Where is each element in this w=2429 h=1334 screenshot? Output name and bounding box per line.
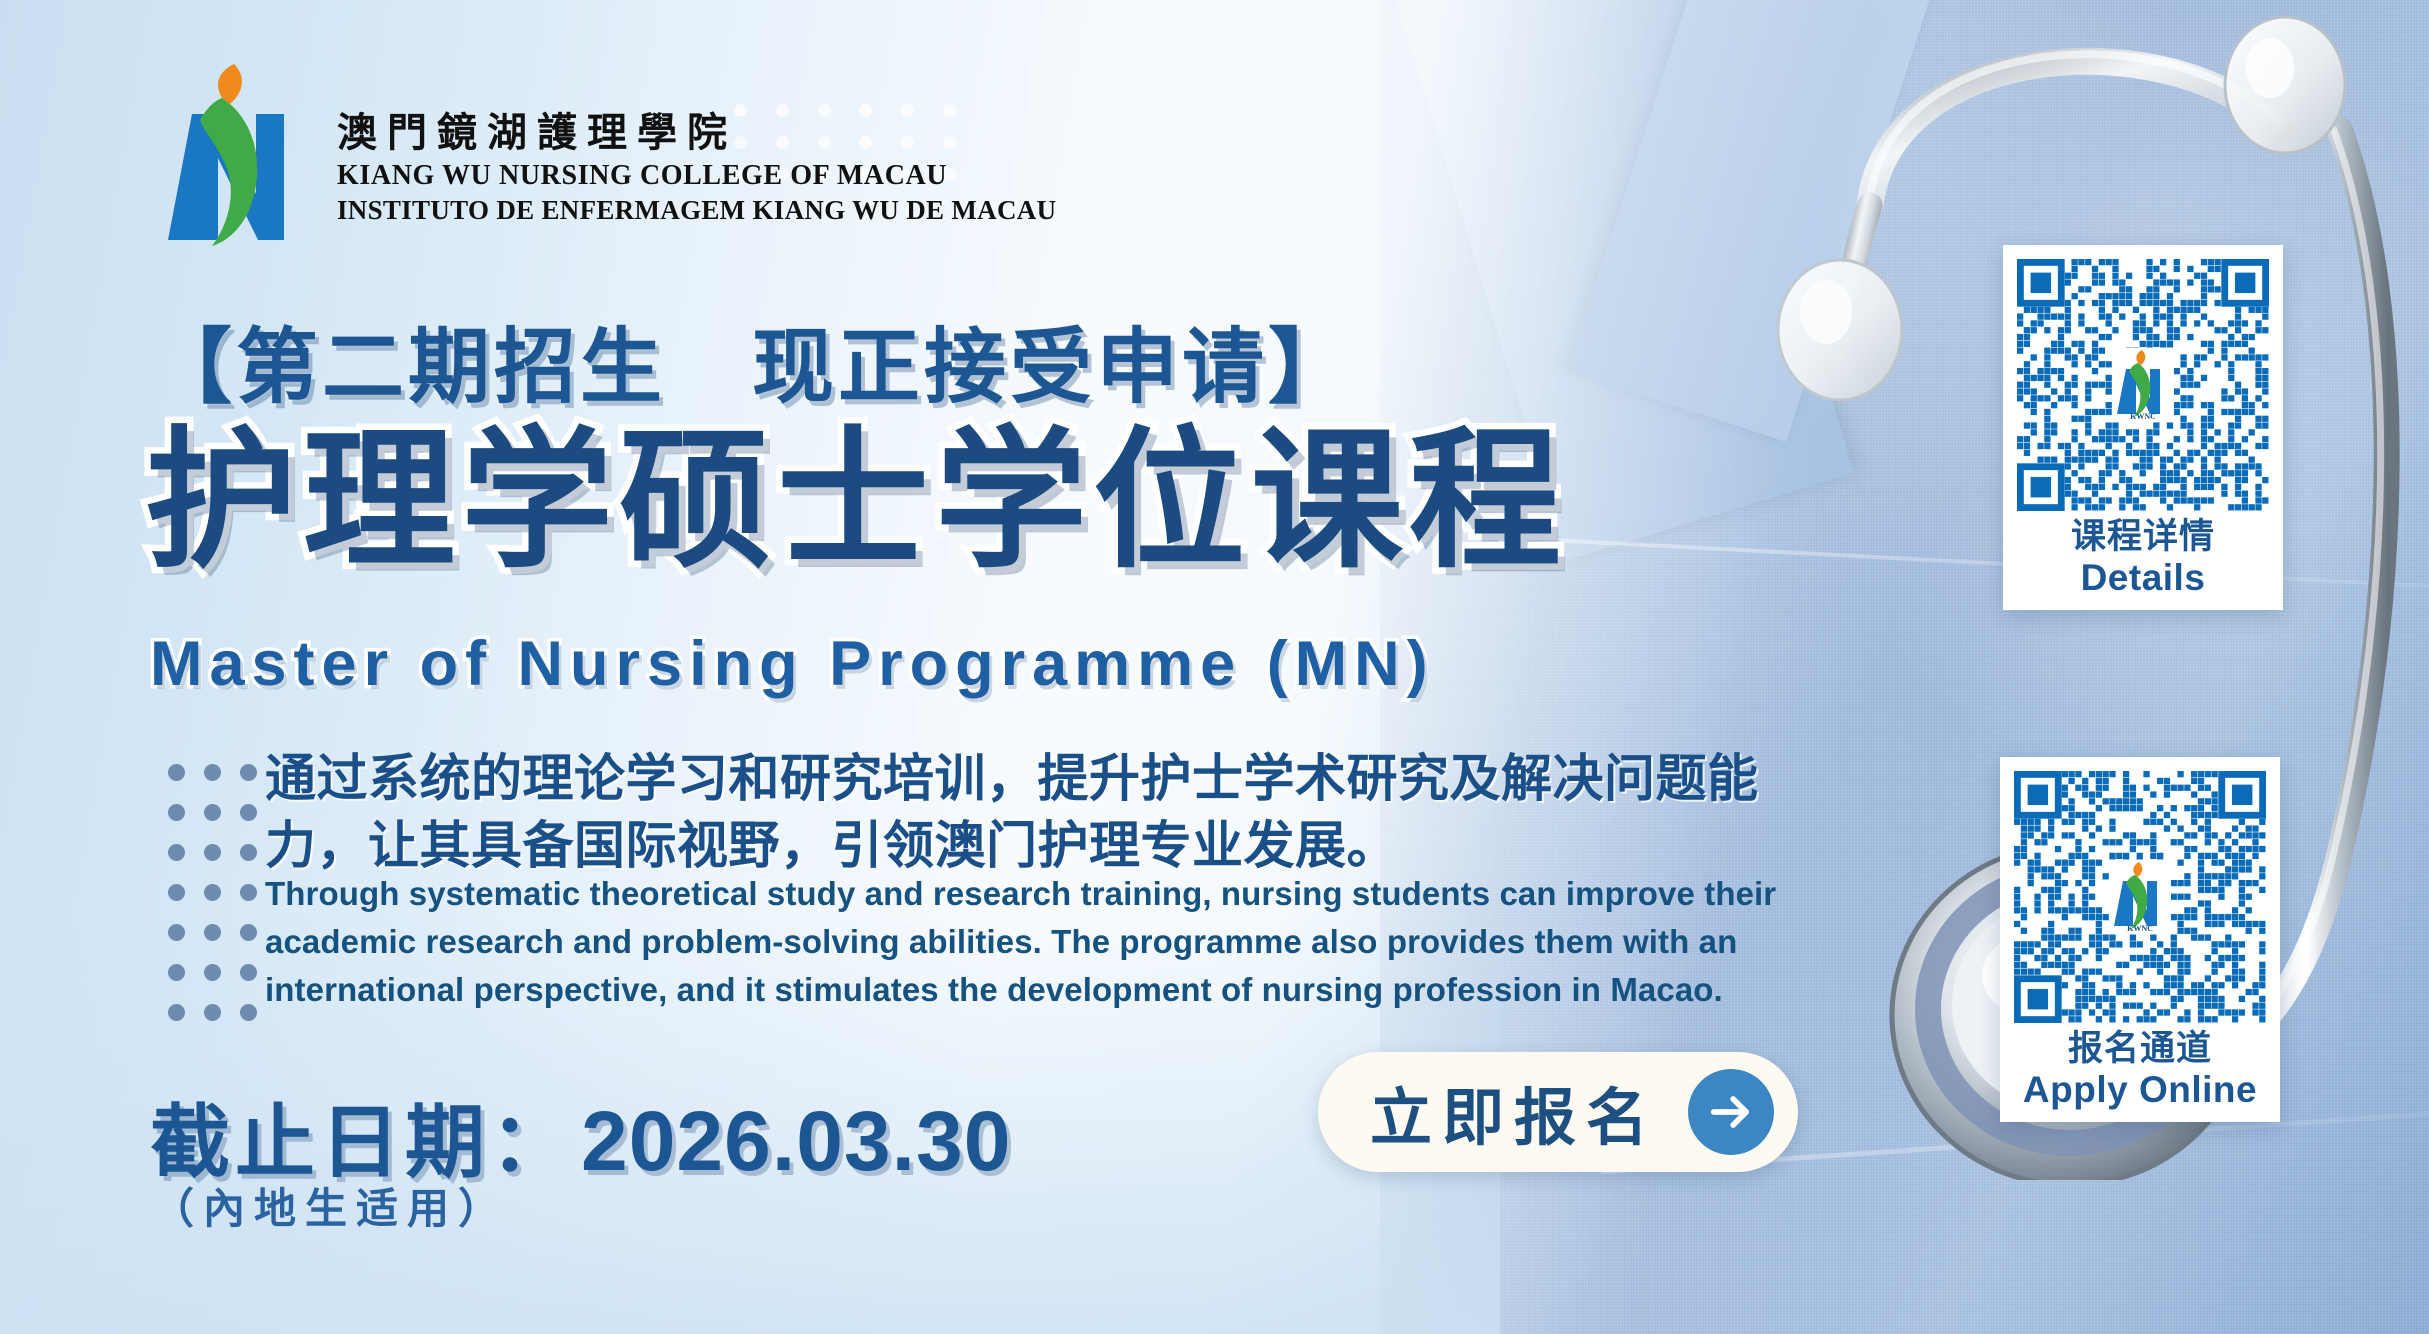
- description-cn: 通过系统的理论学习和研究培训，提升护士学术研究及解决问题能力，让其具备国际视野，…: [265, 745, 1785, 880]
- institution-logo: 澳門鏡湖護理學院 KIANG WU NURSING COLLEGE OF MAC…: [160, 62, 1056, 252]
- promo-banner: 澳門鏡湖護理學院 KIANG WU NURSING COLLEGE OF MAC…: [0, 0, 2429, 1334]
- qr-center-logo-icon: KWNC: [2109, 860, 2171, 934]
- arrow-right-icon: [1688, 1069, 1774, 1155]
- apply-now-label: 立即报名: [1370, 1067, 1658, 1157]
- qr-caption-en: Apply Online: [2023, 1069, 2257, 1112]
- qr-caption-cn: 课程详情: [2071, 517, 2215, 557]
- apply-now-button[interactable]: 立即报名: [1318, 1052, 1798, 1172]
- deadline-note: （內地生适用）: [152, 1175, 509, 1236]
- admission-kicker: 【第二期招生 现正接受申请】: [150, 300, 1354, 419]
- description-en: Through systematic theoretical study and…: [265, 870, 1785, 1014]
- deadline-date: 2026.03.30: [581, 1093, 1011, 1190]
- svg-text:KWNC: KWNC: [2127, 924, 2153, 932]
- qr-code-icon[interactable]: KWNC: [2014, 771, 2266, 1023]
- svg-text:KWNC: KWNC: [2130, 412, 2156, 420]
- page-title: 护理学硕士学位课程: [145, 425, 1567, 577]
- qr-code-icon[interactable]: KWNC: [2017, 259, 2269, 511]
- qr-center-logo-icon: KWNC: [2112, 348, 2174, 422]
- qr-card-apply-online[interactable]: KWNC 报名通道 Apply Online: [2000, 757, 2280, 1122]
- logo-name-pt: INSTITUTO DE ENFERMAGEM KIANG WU DE MACA…: [337, 195, 1056, 226]
- logo-name-en: KIANG WU NURSING COLLEGE OF MACAU: [337, 160, 1056, 192]
- bullet-dot-grid: [158, 752, 266, 1032]
- kwnc-flame-logo-icon: [160, 62, 315, 252]
- logo-name-cn: 澳門鏡湖護理學院: [337, 111, 1056, 155]
- qr-card-details[interactable]: KWNC 课程详情 Details: [2003, 245, 2283, 610]
- page-subtitle: Master of Nursing Programme (MN): [150, 628, 1435, 700]
- qr-caption-en: Details: [2081, 557, 2206, 600]
- qr-caption-cn: 报名通道: [2068, 1029, 2212, 1069]
